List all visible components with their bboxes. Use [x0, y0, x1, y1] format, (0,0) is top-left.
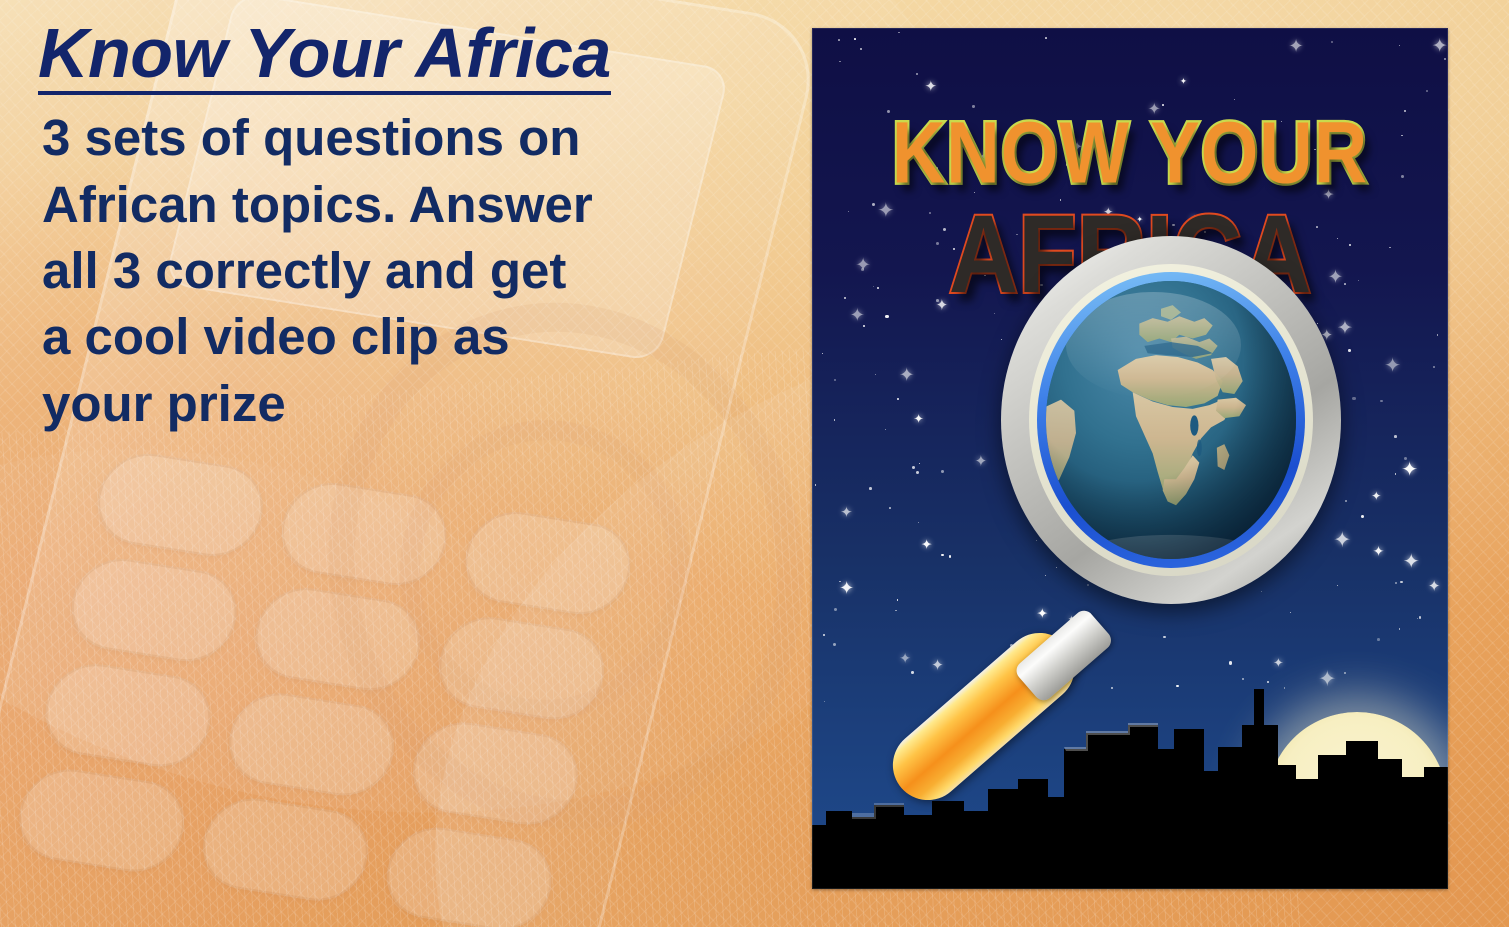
page-title: Know Your Africa: [38, 18, 611, 95]
magnifier-inner-bezel: [1029, 264, 1313, 576]
globe-icon: [1046, 281, 1296, 559]
magnifier-blue-ring: [1037, 272, 1305, 568]
body-line: 3 sets of questions on: [42, 105, 722, 171]
body-line: African topics. Answer: [42, 172, 722, 238]
city-skyline: [812, 629, 1448, 889]
body-line: your prize: [42, 371, 722, 437]
text-column: Know Your Africa 3 sets of questions on …: [34, 18, 774, 437]
body-line: a cool video clip as: [42, 304, 722, 370]
slide-canvas: Know Your Africa 3 sets of questions on …: [0, 0, 1509, 927]
body-copy: 3 sets of questions on African topics. A…: [42, 105, 722, 436]
globe-lens: [1046, 281, 1296, 559]
body-line: all 3 correctly and get: [42, 238, 722, 304]
magnifier-rim: [1001, 236, 1341, 604]
know-your-africa-poster[interactable]: ✦✦✦✦✦✦✦✦✦✦✦✦✦✦✦✦✦✦✦✦✦✦✦✦✦✦✦✦✦✦✦✦✦✦✦✦✦✦✦✦…: [812, 28, 1448, 889]
